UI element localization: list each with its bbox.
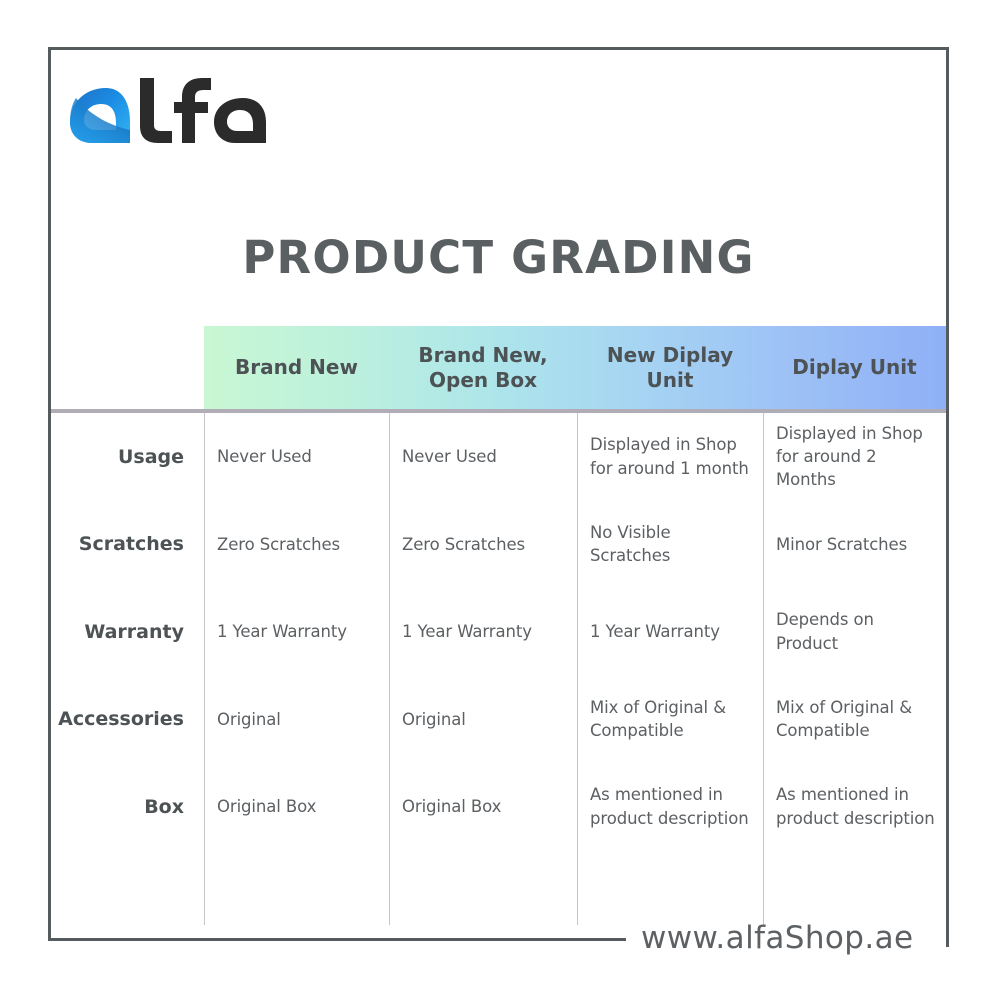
- cell-box-display-unit: As mentioned in product description: [763, 763, 946, 851]
- cell-accessories-brand-new: Original: [204, 676, 389, 764]
- website-url: www.alfaShop.ae: [641, 920, 913, 956]
- table-row: Accessories Original Original Mix of Ori…: [51, 676, 946, 764]
- cell-warranty-display-unit: Depends on Product: [763, 588, 946, 676]
- cell-usage-display-unit: Displayed in Shop for around 2 Months: [763, 413, 946, 501]
- table-row: Box Original Box Original Box As mention…: [51, 763, 946, 851]
- table-row: Warranty 1 Year Warranty 1 Year Warranty…: [51, 588, 946, 676]
- row-label-warranty: Warranty: [51, 588, 204, 676]
- cell-scratches-brand-new-open-box: Zero Scratches: [389, 501, 577, 589]
- cell-box-brand-new-open-box: Original Box: [389, 763, 577, 851]
- cell-accessories-display-unit: Mix of Original & Compatible: [763, 676, 946, 764]
- cell-warranty-brand-new: 1 Year Warranty: [204, 588, 389, 676]
- product-grading-table: Brand New Brand New, Open Box New Diplay…: [51, 326, 946, 851]
- cell-box-brand-new: Original Box: [204, 763, 389, 851]
- column-header-new-display-unit: New Diplay Unit: [577, 326, 763, 409]
- column-header-brand-new-open-box: Brand New, Open Box: [389, 326, 577, 409]
- cell-accessories-new-display-unit: Mix of Original & Compatible: [577, 676, 763, 764]
- cell-scratches-brand-new: Zero Scratches: [204, 501, 389, 589]
- row-label-box: Box: [51, 763, 204, 851]
- frame-border-bottom: [48, 938, 626, 941]
- cell-accessories-brand-new-open-box: Original: [389, 676, 577, 764]
- table-body: Usage Never Used Never Used Displayed in…: [51, 409, 946, 851]
- table-header-corner: [51, 326, 204, 409]
- column-header-label: New Diplay Unit: [583, 343, 757, 392]
- table-row: Usage Never Used Never Used Displayed in…: [51, 413, 946, 501]
- table-header-gradient-band: Brand New Brand New, Open Box New Diplay…: [204, 326, 946, 409]
- table-row: Scratches Zero Scratches Zero Scratches …: [51, 501, 946, 589]
- cell-scratches-new-display-unit: No Visible Scratches: [577, 501, 763, 589]
- cell-warranty-new-display-unit: 1 Year Warranty: [577, 588, 763, 676]
- frame-border-right: [946, 47, 949, 947]
- cell-scratches-display-unit: Minor Scratches: [763, 501, 946, 589]
- frame-border-top: [48, 47, 949, 50]
- row-label-scratches: Scratches: [51, 501, 204, 589]
- product-grading-infographic: PRODUCT GRADING Brand New Brand New, Ope…: [0, 0, 1000, 1000]
- column-header-brand-new: Brand New: [204, 326, 389, 409]
- table-header-row: Brand New Brand New, Open Box New Diplay…: [51, 326, 946, 409]
- cell-warranty-brand-new-open-box: 1 Year Warranty: [389, 588, 577, 676]
- cell-usage-brand-new: Never Used: [204, 413, 389, 501]
- row-label-accessories: Accessories: [51, 676, 204, 764]
- page-title: PRODUCT GRADING: [51, 231, 946, 284]
- alfa-logo-icon: [68, 78, 268, 148]
- column-header-display-unit: Diplay Unit: [763, 326, 946, 409]
- column-header-label: Diplay Unit: [792, 355, 916, 379]
- cell-usage-new-display-unit: Displayed in Shop for around 1 month: [577, 413, 763, 501]
- row-label-usage: Usage: [51, 413, 204, 501]
- cell-box-new-display-unit: As mentioned in product description: [577, 763, 763, 851]
- column-header-label: Brand New, Open Box: [418, 343, 547, 392]
- cell-usage-brand-new-open-box: Never Used: [389, 413, 577, 501]
- column-header-label: Brand New: [235, 355, 358, 379]
